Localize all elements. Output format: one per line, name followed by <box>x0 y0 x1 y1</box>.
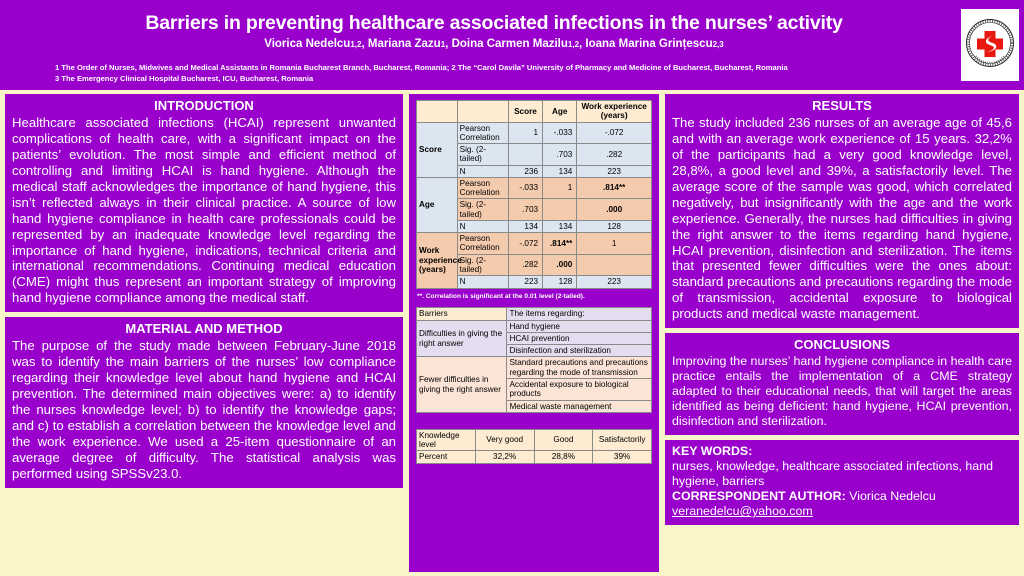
percent-good: 28,8% <box>534 451 593 463</box>
corr-value-work: .000 <box>577 199 652 221</box>
corr-value-score: 134 <box>508 220 542 232</box>
correspondent-name: Viorica Nedelcu <box>849 489 936 503</box>
corr-measure: Sig. (2-tailed) <box>457 254 508 276</box>
table-header-row: Score Age Work experience (years) <box>417 101 652 123</box>
correlation-footnote: **. Correlation is significant at the 0.… <box>417 293 652 301</box>
correlation-table: Score Age Work experience (years) Score … <box>416 100 652 289</box>
corr-measure: Pearson Correlation <box>457 122 508 144</box>
barriers-item: Hand hygiene <box>507 320 652 332</box>
knowledge-category-very-good: Very good <box>475 429 534 451</box>
corr-value-age: 134 <box>543 165 577 177</box>
corr-value-score: 223 <box>508 276 542 288</box>
tables-panel: Score Age Work experience (years) Score … <box>409 94 659 572</box>
poster-canvas: Barriers in preventing healthcare associ… <box>0 0 1024 576</box>
author-entry: Mariana Zazu1, <box>368 38 449 50</box>
barriers-group-fewer-difficulties: Fewer difficulties in giving the right a… <box>417 357 507 412</box>
conclusions-title: CONCLUSIONS <box>672 337 1012 353</box>
table-row: Fewer difficulties in giving the right a… <box>417 357 652 379</box>
results-panel: RESULTS The study included 236 nurses of… <box>665 94 1019 328</box>
corr-value-work: -.072 <box>577 122 652 144</box>
corr-value-score: -.072 <box>508 233 542 255</box>
author-separator: , <box>579 38 582 50</box>
correspondent-label: CORRESPONDENT AUTHOR: <box>672 489 846 503</box>
corr-value-score: .703 <box>508 199 542 221</box>
knowledge-row-label: Knowledge level <box>417 429 476 451</box>
barriers-item: Accidental exposure to biological produc… <box>507 379 652 401</box>
author-separator: , <box>361 38 364 50</box>
corr-group-work: Work experience (years) <box>417 233 458 288</box>
author-name: Viorica Nedelcu <box>264 38 350 50</box>
barriers-item: Disinfection and sterilization <box>507 345 652 357</box>
corr-group-age: Age <box>417 177 458 232</box>
knowledge-level-table: Knowledge level Very good Good Satisfact… <box>416 429 652 464</box>
author-name: Doina Carmen Mazilu <box>452 38 568 50</box>
corr-header-blank-1 <box>417 101 458 123</box>
table-row: Percent 32,2% 28,8% 39% <box>417 451 652 463</box>
corr-value-work: .282 <box>577 144 652 166</box>
corr-value-score: .282 <box>508 254 542 276</box>
barriers-header-left: Barriers <box>417 308 507 320</box>
table-header-row: Knowledge level Very good Good Satisfact… <box>417 429 652 451</box>
conclusions-panel: CONCLUSIONS Improving the nurses’ hand h… <box>665 333 1019 435</box>
left-column: INTRODUCTION Healthcare associated infec… <box>5 94 403 493</box>
conclusions-body: Improving the nurses’ hand hygiene compl… <box>672 354 1012 429</box>
corr-value-age: 1 <box>543 177 577 199</box>
table-header-row: Barriers The items regarding: <box>417 308 652 320</box>
author-name: Mariana Zazu <box>368 38 441 50</box>
corr-value-age <box>543 199 577 221</box>
corr-value-work <box>577 254 652 276</box>
introduction-title: INTRODUCTION <box>12 98 396 114</box>
corr-value-work: 223 <box>577 165 652 177</box>
corr-value-work: 1 <box>577 233 652 255</box>
knowledge-category-good: Good <box>534 429 593 451</box>
correspondent-email-line: veranedelcu@yahoo.com <box>672 504 1012 519</box>
corr-value-score: -.033 <box>508 177 542 199</box>
results-body: The study included 236 nurses of an aver… <box>672 115 1012 322</box>
table-row: Age Pearson Correlation -.033 1 .814** <box>417 177 652 199</box>
corr-value-age: .703 <box>543 144 577 166</box>
results-title: RESULTS <box>672 98 1012 114</box>
keywords-text: nurses, knowledge, healthcare associated… <box>672 459 1012 489</box>
corr-measure: Pearson Correlation <box>457 233 508 255</box>
corr-value-score <box>508 144 542 166</box>
barriers-group-difficulties: Difficulties in giving the right answer <box>417 320 507 357</box>
barriers-item: Medical waste management <box>507 400 652 412</box>
percent-row-label: Percent <box>417 451 476 463</box>
corr-measure: Sig. (2-tailed) <box>457 144 508 166</box>
correspondent-line: CORRESPONDENT AUTHOR: Viorica Nedelcu <box>672 489 1012 504</box>
corr-group-score: Score <box>417 122 458 177</box>
material-method-title: MATERIAL AND METHOD <box>12 321 396 337</box>
corr-value-age: 134 <box>543 220 577 232</box>
author-list: Viorica Nedelcu1,2, Mariana Zazu1, Doina… <box>44 38 944 51</box>
corr-value-work: .814** <box>577 177 652 199</box>
corr-measure: N <box>457 220 508 232</box>
corr-header-age: Age <box>543 101 577 123</box>
keywords-panel: KEY WORDS: nurses, knowledge, healthcare… <box>665 440 1019 525</box>
affiliations: 1 The Order of Nurses, Midwives and Medi… <box>55 62 945 85</box>
author-affiliation-marker: 1,2 <box>568 40 579 49</box>
keywords-label: KEY WORDS: <box>672 444 1012 459</box>
corr-header-work: Work experience (years) <box>577 101 652 123</box>
introduction-body: Healthcare associated infections (HCAI) … <box>12 115 396 306</box>
corr-value-work: 128 <box>577 220 652 232</box>
right-column: RESULTS The study included 236 nurses of… <box>665 94 1019 530</box>
logo-container <box>961 9 1019 81</box>
author-separator: , <box>445 38 448 50</box>
introduction-panel: INTRODUCTION Healthcare associated infec… <box>5 94 403 312</box>
corr-measure: N <box>457 165 508 177</box>
barriers-item: Standard precautions and precautions reg… <box>507 357 652 379</box>
barriers-table: Barriers The items regarding: Difficulti… <box>416 307 652 412</box>
corr-measure: N <box>457 276 508 288</box>
email-link[interactable]: veranedelcu@yahoo.com <box>672 504 813 518</box>
table-row: Score Pearson Correlation 1 -.033 -.072 <box>417 122 652 144</box>
corr-value-age: .814** <box>543 233 577 255</box>
author-entry: Doina Carmen Mazilu1,2, <box>452 38 583 50</box>
table-row: Work experience (years) Pearson Correlat… <box>417 233 652 255</box>
poster-header: Barriers in preventing healthcare associ… <box>0 0 1024 90</box>
author-entry: Viorica Nedelcu1,2, <box>264 38 364 50</box>
knowledge-category-satisfactorily: Satisfactorily <box>593 429 652 451</box>
corr-value-score: 236 <box>508 165 542 177</box>
corr-value-age: 128 <box>543 276 577 288</box>
author-entry: Ioana Marina Grințescu2,3 <box>585 38 723 50</box>
keywords-block: KEY WORDS: nurses, knowledge, healthcare… <box>672 444 1012 519</box>
corr-value-score: 1 <box>508 122 542 144</box>
corr-value-age: .000 <box>543 254 577 276</box>
material-method-body: The purpose of the study made between Fe… <box>12 338 396 481</box>
barriers-header-right: The items regarding: <box>507 308 652 320</box>
material-method-panel: MATERIAL AND METHOD The purpose of the s… <box>5 317 403 487</box>
corr-measure: Pearson Correlation <box>457 177 508 199</box>
page-title: Barriers in preventing healthcare associ… <box>44 13 944 34</box>
percent-satisfactorily: 39% <box>593 451 652 463</box>
corr-measure: Sig. (2-tailed) <box>457 199 508 221</box>
barriers-item: HCAI prevention <box>507 332 652 344</box>
corr-value-work: 223 <box>577 276 652 288</box>
author-affiliation-marker: 2,3 <box>713 40 724 49</box>
corr-header-score: Score <box>508 101 542 123</box>
author-affiliation-marker: 1,2 <box>350 40 361 49</box>
percent-very-good: 32,2% <box>475 451 534 463</box>
affiliation-line-1: 1 The Order of Nurses, Midwives and Medi… <box>55 62 945 73</box>
affiliation-line-2: 3 The Emergency Clinical Hospital Buchar… <box>55 73 945 84</box>
table-row: Difficulties in giving the right answer … <box>417 320 652 332</box>
table-spacer <box>416 413 652 429</box>
author-name: Ioana Marina Grințescu <box>585 38 712 50</box>
ocmr-red-cross-logo <box>964 16 1016 74</box>
corr-value-age: -.033 <box>543 122 577 144</box>
corr-header-blank-2 <box>457 101 508 123</box>
middle-column: Score Age Work experience (years) Score … <box>409 94 659 572</box>
